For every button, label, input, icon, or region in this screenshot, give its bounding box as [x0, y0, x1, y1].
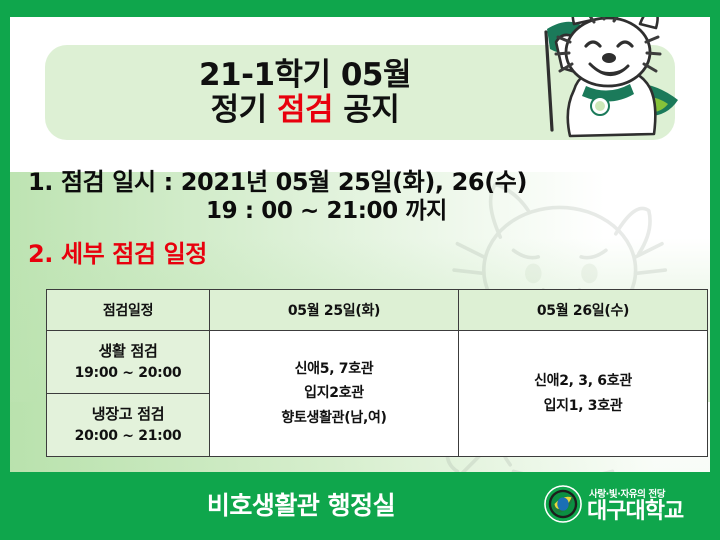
- row-label-time: 19:00 ~ 20:00: [47, 363, 209, 384]
- cell-day2-line-2: 입지1, 3호관: [460, 394, 706, 419]
- header-cell-schedule: 점검일정: [47, 290, 210, 331]
- title-banner: 21-1학기 05월 정기 점검 공지: [45, 45, 675, 140]
- cell-day1-line-3: 향토생활관(남,여): [211, 406, 457, 431]
- notice-body: 1. 점검 일시 : 2021년 05월 25일(화), 26(수) 19 : …: [28, 167, 692, 269]
- title-block: 21-1학기 05월 정기 점검 공지: [45, 45, 565, 140]
- notice-item-1: 1. 점검 일시 : 2021년 05월 25일(화), 26(수): [28, 167, 692, 197]
- title-line-2: 정기 점검 공지: [211, 93, 400, 128]
- header-cell-day2: 05월 26일(수): [459, 290, 708, 331]
- table-row: 생활 점검 19:00 ~ 20:00 신애5, 7호관 입지2호관 향토생활관…: [47, 331, 708, 394]
- cell-day2-line-1: 신애2, 3, 6호관: [460, 369, 706, 394]
- content-card: 21-1학기 05월 정기 점검 공지: [10, 17, 710, 472]
- cell-day1-line-1: 신애5, 7호관: [211, 357, 457, 382]
- title-suffix: 공지: [333, 92, 399, 128]
- notice-item-1-time: 19 : 00 ~ 21:00 까지: [28, 197, 692, 227]
- cell-day2-locations: 신애2, 3, 6호관 입지1, 3호관: [459, 331, 708, 457]
- cell-day1-locations: 신애5, 7호관 입지2호관 향토생활관(남,여): [210, 331, 459, 457]
- schedule-table-wrapper: 점검일정 05월 25일(화) 05월 26일(수) 생활 점검 19:00 ~…: [46, 289, 698, 457]
- row-label-title: 생활 점검: [47, 340, 209, 363]
- university-name: 대구대학교: [587, 501, 683, 523]
- title-prefix: 정기: [211, 92, 277, 128]
- row-label-title: 냉장고 점검: [47, 403, 209, 426]
- table-header-row: 점검일정 05월 25일(화) 05월 26일(수): [47, 290, 708, 331]
- row-label-time: 20:00 ~ 21:00: [47, 426, 209, 447]
- header-cell-day1: 05월 25일(화): [210, 290, 459, 331]
- university-text-block: 사랑·빛·자유의 전당 대구대학교: [587, 486, 683, 523]
- title-line-1: 21-1학기 05월: [199, 58, 411, 93]
- university-emblem-icon: [544, 485, 582, 523]
- notice-poster: 21-1학기 05월 정기 점검 공지: [0, 0, 720, 540]
- row-label-life-inspection: 생활 점검 19:00 ~ 20:00: [47, 331, 210, 394]
- schedule-table: 점검일정 05월 25일(화) 05월 26일(수) 생활 점검 19:00 ~…: [46, 289, 708, 457]
- notice-item-2: 2. 세부 점검 일정: [28, 234, 692, 269]
- university-tagline: 사랑·빛·자유의 전당: [589, 486, 683, 500]
- row-label-fridge-inspection: 냉장고 점검 20:00 ~ 21:00: [47, 394, 210, 457]
- cell-day1-line-2: 입지2호관: [211, 381, 457, 406]
- title-highlight: 점검: [277, 92, 333, 128]
- footer-bar: 비호생활관 행정실 사랑·빛·자유의 전당 대구대학교: [0, 472, 720, 540]
- university-branding: 사랑·빛·자유의 전당 대구대학교: [544, 480, 712, 528]
